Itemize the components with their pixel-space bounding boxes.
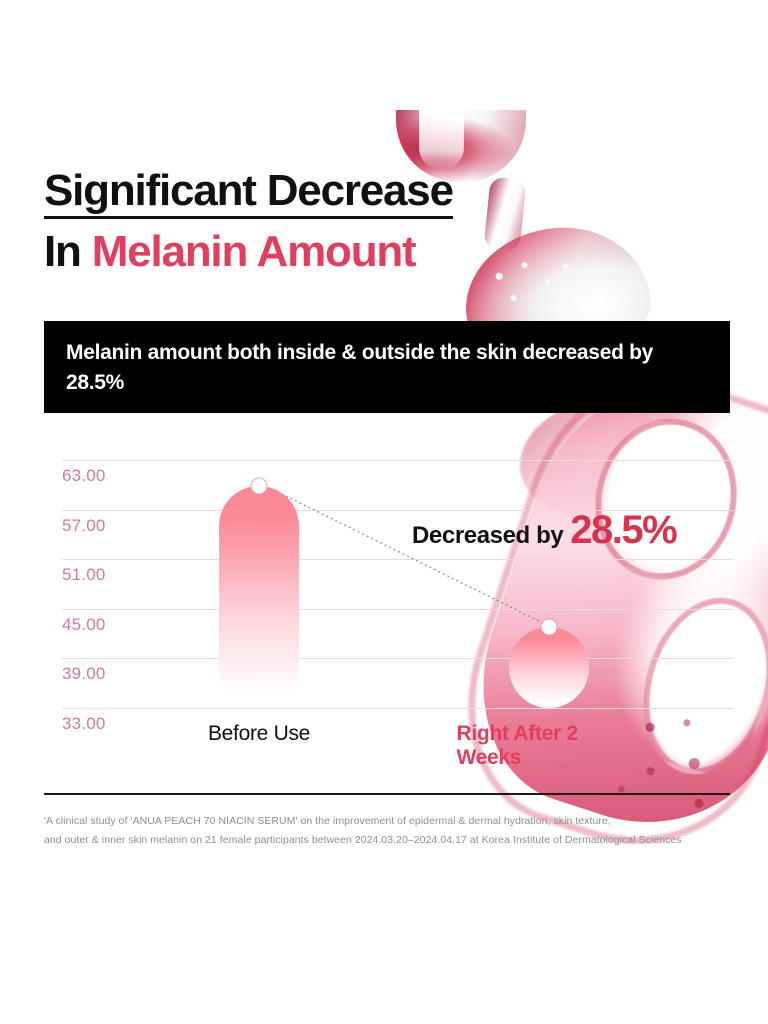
decrease-annotation: Decreased by28.5% <box>412 508 676 553</box>
study-footnote: 'A clinical study of 'ANUA PEACH 70 NIAC… <box>44 812 744 851</box>
decrease-annotation-label: Decreased by <box>412 522 563 549</box>
chart-plot-area: 63.0057.0051.0045.0039.0033.00 Decreased… <box>44 440 734 725</box>
chart-bar-fill <box>509 627 589 708</box>
summary-banner: Melanin amount both inside & outside the… <box>44 321 730 413</box>
page-title-line-2-prefix: In <box>44 227 92 276</box>
page-title-line-1: Significant Decrease <box>44 168 453 219</box>
page-title-line-2: In Melanin Amount <box>44 229 564 276</box>
chart-x-axis: Before UseRight After 2 Weeks <box>44 722 734 762</box>
change-connector-line <box>44 440 734 725</box>
chart-bar-marker <box>541 619 558 636</box>
page-title: Significant Decrease In Melanin Amount <box>44 168 564 275</box>
chart-bar <box>509 627 589 708</box>
study-footnote-line-2: and outer & inner skin melanin on 21 fem… <box>44 831 744 850</box>
summary-banner-text: Melanin amount both inside & outside the… <box>66 338 666 398</box>
chart-bar-marker <box>251 477 268 494</box>
infographic-page: Significant Decrease In Melanin Amount M… <box>0 0 768 1024</box>
footer-divider <box>44 793 730 795</box>
x-axis-tick-label: Right After 2 Weeks <box>457 722 642 770</box>
x-axis-tick-label: Before Use <box>208 722 310 746</box>
page-title-line-2-accent: Melanin Amount <box>92 227 416 276</box>
decrease-annotation-value: 28.5% <box>570 508 676 552</box>
chart-bar <box>219 486 299 708</box>
melanin-bar-chart: 63.0057.0051.0045.0039.0033.00 Decreased… <box>44 440 734 740</box>
chart-bar-fill <box>219 486 299 708</box>
study-footnote-line-1: 'A clinical study of 'ANUA PEACH 70 NIAC… <box>44 812 744 831</box>
